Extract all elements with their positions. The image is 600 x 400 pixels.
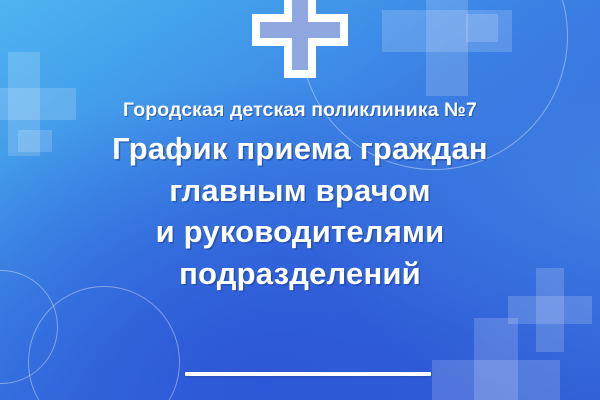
medical-cross-bottom-right-large-icon: [432, 318, 560, 400]
page-title-line-4: подразделений: [0, 253, 600, 295]
divider-rule: [185, 372, 431, 376]
page-title-line-1: График приема граждан: [0, 128, 600, 170]
page-title: График приема граждан главным врачом и р…: [0, 128, 600, 294]
title-block: Городская детская поликлиника №7 График …: [0, 98, 600, 295]
medical-cross-top-right-icon: [382, 0, 512, 96]
organization-name: Городская детская поликлиника №7: [0, 98, 600, 122]
square-top-right-icon: [466, 14, 498, 42]
poster-canvas: Городская детская поликлиника №7 График …: [0, 0, 600, 400]
page-title-line-2: главным врачом: [0, 170, 600, 212]
page-title-line-3: и руководителями: [0, 211, 600, 253]
circle-ring-bottom-left-large-icon: [28, 286, 180, 400]
medical-cross-top-center-icon: [252, 0, 348, 78]
